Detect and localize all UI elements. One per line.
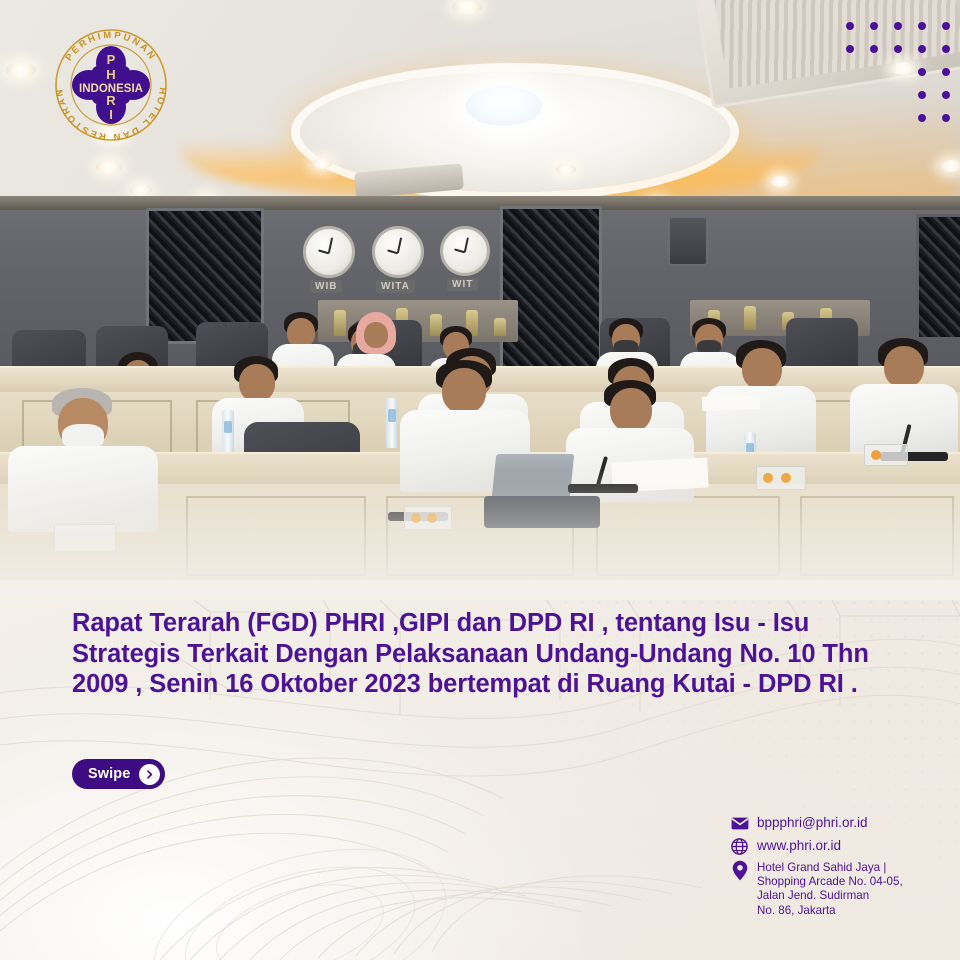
social-media-poster: WIB WITA WIT <box>0 0 960 960</box>
address-line: Shopping Arcade No. 04-05, <box>757 875 903 889</box>
swipe-button[interactable]: Swipe <box>72 759 165 789</box>
email-icon <box>730 814 749 833</box>
downlight <box>130 184 152 196</box>
wall-clock-wit <box>440 226 490 276</box>
wall-clock-wib <box>303 226 355 278</box>
page-title: Rapat Terarah (FGD) PHRI ,GIPI dan DPD R… <box>72 608 902 700</box>
downlight <box>96 160 122 174</box>
contact-address-row: Hotel Grand Sahid Jaya | Shopping Arcade… <box>730 860 955 918</box>
clock-label-wib: WIB <box>310 280 342 293</box>
photo-bottom-fade <box>0 470 960 600</box>
globe-icon <box>730 837 749 856</box>
downlight <box>6 62 36 78</box>
wall-speaker <box>668 216 708 266</box>
documents <box>702 395 760 411</box>
wall-clock-wita <box>372 226 424 278</box>
snack-box <box>864 444 908 466</box>
downlight <box>312 158 332 169</box>
logo-letter-r: R <box>106 93 116 108</box>
ceiling-lamp <box>466 86 542 126</box>
downlight <box>770 176 790 187</box>
clock-label-wit: WIT <box>447 278 478 291</box>
address-line: Hotel Grand Sahid Jaya | <box>757 861 903 875</box>
contact-email-value: bppphri@phri.or.id <box>757 814 868 830</box>
decorative-dot-grid <box>846 22 950 114</box>
downlight <box>452 0 482 14</box>
logo-letter-i: I <box>109 107 113 122</box>
attendee-hijab <box>348 312 406 374</box>
address-line: No. 86, Jakarta <box>757 904 903 918</box>
downlight <box>556 164 576 175</box>
wall-panel-far-right <box>916 214 960 340</box>
logo-center-word: INDONESIA <box>79 83 143 95</box>
water-bottle <box>386 398 398 448</box>
address-line: Jalan Jend. Sudirman <box>757 889 903 903</box>
logo-letter-h: H <box>106 67 115 82</box>
water-bottle <box>222 410 234 458</box>
logo-letter-p: P <box>107 52 116 67</box>
chevron-right-icon <box>139 764 160 785</box>
wall-cornice <box>0 196 960 210</box>
location-pin-icon <box>730 860 749 880</box>
phri-logo: PERHIMPUNAN HOTEL DAN RESTORAN P H R I I… <box>48 22 174 148</box>
swipe-button-label: Swipe <box>88 766 130 782</box>
contact-email-row[interactable]: bppphri@phri.or.id <box>730 814 955 833</box>
contact-website-row[interactable]: www.phri.or.id <box>730 837 955 856</box>
clock-label-wita: WITA <box>376 280 415 293</box>
downlight <box>940 160 960 172</box>
contact-block: bppphri@phri.or.id www.phri.or.id <box>730 814 955 922</box>
contact-website-value: www.phri.or.id <box>757 837 841 853</box>
contact-address-value: Hotel Grand Sahid Jaya | Shopping Arcade… <box>757 860 903 918</box>
